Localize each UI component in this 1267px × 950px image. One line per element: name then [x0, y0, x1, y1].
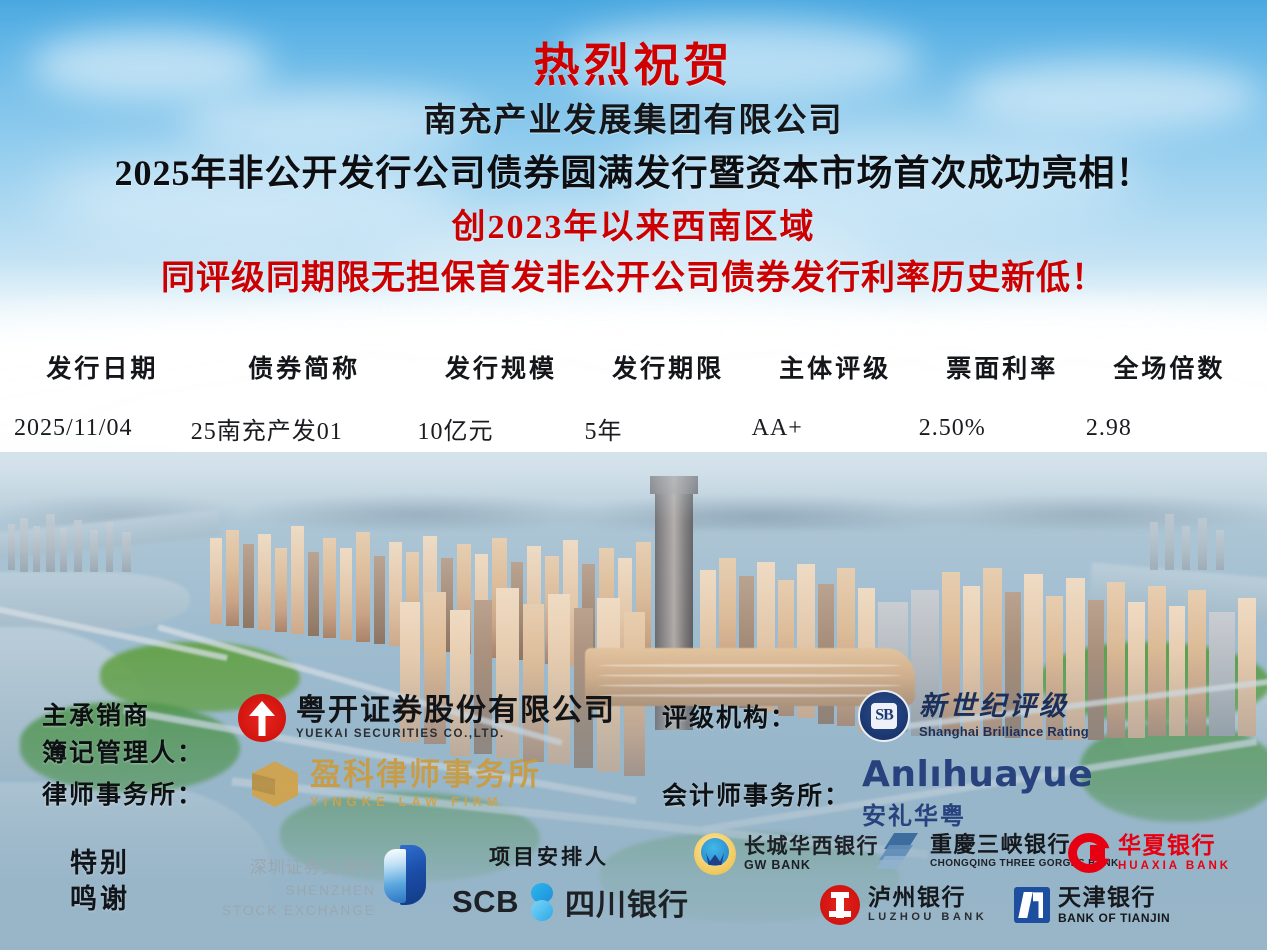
huaxia-en-name: HUAXIA BANK	[1118, 860, 1231, 872]
gw-bank-en-name: GW BANK	[744, 859, 879, 872]
special-thanks-line1: 特别	[70, 846, 130, 882]
special-thanks-label: 特别 鸣谢	[70, 846, 130, 919]
luzhou-bank-icon	[820, 885, 860, 925]
yuekai-mark-icon	[238, 694, 286, 742]
shenzhen-stock-exchange-logo: 深圳证券交易所 SHENZHEN STOCK EXCHANGE	[222, 845, 428, 919]
anlihuayue-cn-name: 安礼华粤	[862, 796, 1093, 831]
anlihuayue-logo: Anlıhuayue 安礼华粤	[862, 757, 1093, 831]
luzhou-cn-name: 泸州银行	[868, 886, 987, 910]
yingke-cn-name: 盈科律师事务所	[310, 760, 541, 792]
gw-bank-logo: 长城华西银行 GW BANK	[694, 833, 879, 875]
table-header-row: 发行日期 债券简称 发行规模 发行期限 主体评级 票面利率 全场倍数	[14, 345, 1253, 385]
tianjin-cn-name: 天津银行	[1058, 886, 1170, 910]
scb-double-circle-icon	[527, 883, 557, 921]
congrats-title: 热烈祝贺	[0, 40, 1267, 91]
gw-bank-cn-name: 长城华西银行	[744, 835, 879, 857]
huaxia-bank-logo: 华夏银行 HUAXIA BANK	[1068, 833, 1231, 873]
issuance-headline: 2025年非公开发行公司债券圆满发行暨资本市场首次成功亮相！	[0, 153, 1267, 194]
col-header-bond-name: 债券简称	[191, 345, 418, 385]
bank-of-tianjin-logo: 天津银行 BANK OF TIANJIN	[1014, 886, 1170, 925]
col-header-coupon-rate: 票面利率	[919, 345, 1086, 385]
szse-cn-name: 深圳证券交易所	[222, 859, 376, 878]
bookrunner-label: 簿记管理人：	[42, 733, 204, 769]
szse-en-line2: STOCK EXCHANGE	[222, 903, 376, 919]
tianjin-bank-icon	[1014, 887, 1050, 923]
cell-tenor: 5年	[585, 385, 752, 446]
col-header-issuer-rating: 主体评级	[752, 345, 919, 385]
company-name: 南充产业发展集团有限公司	[0, 103, 1267, 141]
szse-en-line1: SHENZHEN	[222, 883, 376, 899]
cell-issuer-rating: AA+	[752, 385, 919, 446]
yuekai-cn-name: 粤开证券股份有限公司	[296, 696, 616, 727]
yuekai-securities-logo: 粤开证券股份有限公司 YUEKAI SECURITIES CO.,LTD.	[238, 694, 616, 742]
lead-underwriter-label-line1: 主承销商	[42, 696, 150, 732]
brilliance-cn-name: 新世纪评级	[919, 693, 1089, 721]
col-header-tenor: 发行期限	[585, 345, 752, 385]
shanghai-brilliance-rating-logo: 新世纪评级 Shanghai Brilliance Rating	[858, 690, 1089, 742]
cell-issue-date: 2025/11/04	[14, 385, 191, 446]
accounting-firm-label: 会计师事务所：	[662, 776, 851, 812]
record-line-2: 同评级同期限无担保首发非公开公司债券发行利率历史新低！	[0, 259, 1267, 298]
yingke-law-firm-logo: 盈科律师事务所 YINGKE LAW FIRM	[252, 760, 541, 809]
brilliance-en-name: Shanghai Brilliance Rating	[919, 724, 1089, 739]
cell-issue-size: 10亿元	[417, 385, 584, 446]
bond-summary-table: 发行日期 债券简称 发行规模 发行期限 主体评级 票面利率 全场倍数 2025/…	[14, 345, 1253, 446]
scb-en-name: SCB	[452, 884, 519, 920]
anlihuayue-en-name: Anlıhuayue	[862, 757, 1093, 793]
tianjin-en-name: BANK OF TIANJIN	[1058, 912, 1170, 925]
cell-bond-name: 25南充产发01	[191, 385, 418, 446]
szse-sail-icon	[382, 845, 428, 907]
yingke-cube-icon	[252, 761, 298, 807]
project-arranger-label: 项目安排人	[489, 841, 609, 871]
yuekai-en-name: YUEKAI SECURITIES CO.,LTD.	[296, 728, 616, 740]
table-row: 2025/11/04 25南充产发01 10亿元 5年 AA+ 2.50% 2.…	[14, 385, 1253, 446]
scb-cn-name: 四川银行	[565, 880, 689, 924]
brilliance-seal-icon	[858, 690, 910, 742]
luzhou-en-name: LUZHOU BANK	[868, 912, 987, 924]
rating-agency-label: 评级机构：	[662, 698, 797, 734]
huaxia-cn-name: 华夏银行	[1118, 834, 1231, 858]
col-header-issue-date: 发行日期	[14, 345, 191, 385]
sichuan-bank-logo: SCB 四川银行	[452, 880, 689, 924]
col-header-issue-size: 发行规模	[417, 345, 584, 385]
huaxia-bank-icon	[1068, 833, 1110, 873]
luzhou-bank-logo: 泸州银行 LUZHOU BANK	[820, 885, 987, 925]
three-gorges-icon	[876, 833, 922, 871]
record-line-1: 创2023年以来西南区域	[0, 208, 1267, 247]
cell-coupon-rate: 2.50%	[919, 385, 1086, 446]
special-thanks-line2: 鸣谢	[70, 882, 130, 918]
cell-oversubscription: 2.98	[1086, 385, 1253, 446]
gw-bank-icon	[694, 833, 736, 875]
yingke-en-name: YINGKE LAW FIRM	[310, 794, 541, 809]
headline-block: 热烈祝贺 南充产业发展集团有限公司 2025年非公开发行公司债券圆满发行暨资本市…	[0, 0, 1267, 298]
celebration-poster: 热烈祝贺 南充产业发展集团有限公司 2025年非公开发行公司债券圆满发行暨资本市…	[0, 0, 1267, 950]
col-header-oversubscription: 全场倍数	[1086, 345, 1253, 385]
law-firm-label: 律师事务所：	[42, 775, 204, 811]
